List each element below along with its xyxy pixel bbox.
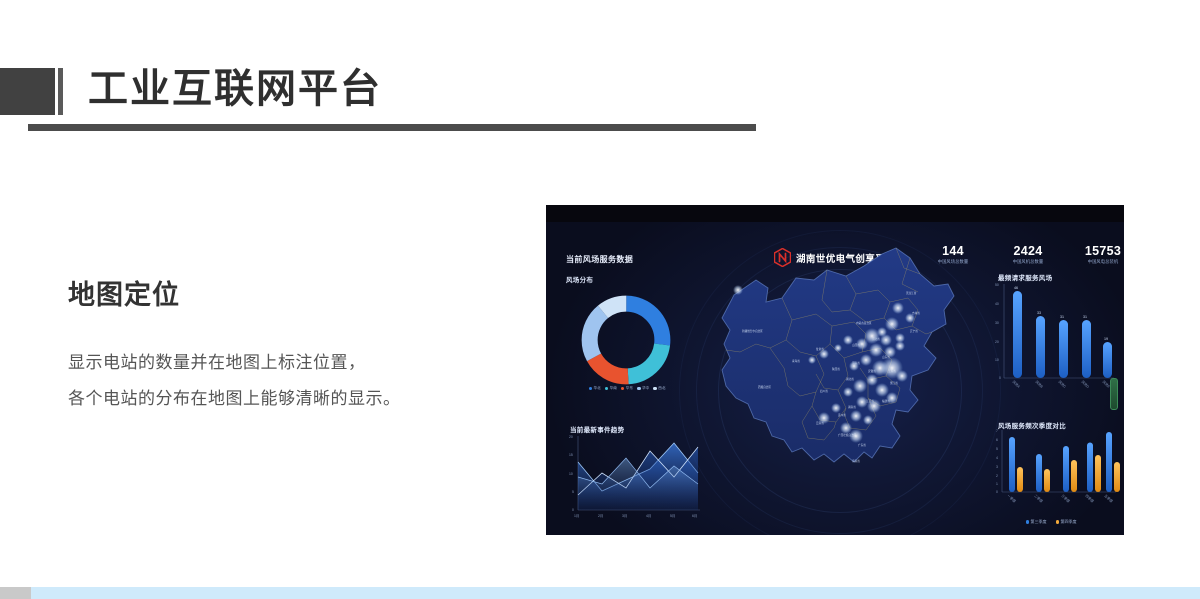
donut-legend-label-1: 华北 [594, 386, 601, 391]
vertical-scroll-pill[interactable] [1110, 378, 1118, 410]
legend-dot-icon [589, 387, 593, 391]
svg-text:辽宁省: 辽宁省 [910, 329, 918, 333]
svg-text:四季度: 四季度 [1084, 493, 1095, 504]
trend-chart-panel: 当前最新事件趋势 [556, 418, 708, 530]
donut-legend-item-4: 华中 [637, 386, 649, 391]
svg-text:湖南省: 湖南省 [848, 405, 856, 409]
svg-text:1月: 1月 [574, 514, 579, 518]
donut-legend: 华北 华南 华东 华中 西北 [563, 386, 691, 391]
section-description-line-1: 显示电站的数量并在地图上标注位置， [68, 345, 401, 381]
legend-dot-icon [605, 387, 609, 391]
svg-text:10: 10 [995, 358, 999, 362]
header-decoration-bar [58, 68, 63, 115]
donut-legend-label-4: 华中 [642, 386, 649, 391]
stat-card-2: 2424 中国风机总数量 [1004, 244, 1052, 265]
svg-text:四川省: 四川省 [820, 389, 828, 393]
svg-text:46: 46 [1014, 286, 1018, 290]
stat-label-2: 中国风机总数量 [1005, 258, 1051, 265]
quarterly-chart-legend: 第三季度 第四季度 [982, 519, 1120, 525]
svg-text:0: 0 [999, 376, 1001, 380]
donut-legend-item-2: 华南 [605, 386, 617, 391]
svg-text:4月: 4月 [646, 514, 651, 518]
svg-text:20: 20 [995, 340, 999, 344]
svg-text:31: 31 [1083, 315, 1087, 319]
svg-text:19: 19 [1104, 337, 1108, 341]
svg-text:3月: 3月 [622, 514, 627, 518]
quarterly-legend-label-2: 第四季度 [1061, 519, 1077, 525]
quarterly-comparison-chart: 7 6 5 4 3 2 1 0 一季度 [982, 418, 1120, 518]
svg-text:海南省: 海南省 [852, 459, 860, 463]
svg-text:风场D: 风场D [1080, 379, 1091, 389]
top-wind-farms-chart: 50 40 30 20 10 0 46 33 31 31 19 风场A [982, 270, 1120, 410]
donut-legend-item-3: 华东 [621, 386, 633, 391]
legend-dot-icon [637, 387, 641, 391]
donut-legend-label-3: 华东 [626, 386, 633, 391]
svg-text:2: 2 [996, 474, 998, 478]
svg-text:30: 30 [995, 321, 999, 325]
donut-chart [578, 292, 674, 388]
quarterly-comparison-chart-panel: 风场服务频次季度对比 7 6 5 4 3 [982, 418, 1120, 535]
dashboard-body: 当前风场服务数据 湖南世优电气创享平台 144 中国风场总数量 2424 中国风… [546, 222, 1124, 535]
section-description-line-2: 各个电站的分布在地图上能够清晰的显示。 [68, 381, 401, 417]
svg-text:50: 50 [995, 283, 999, 287]
svg-text:三季度: 三季度 [1060, 493, 1071, 504]
legend-dot-icon [621, 387, 625, 391]
donut-legend-item-5: 西北 [653, 386, 665, 391]
dashboard-screenshot: 当前风场服务数据 湖南世优电气创享平台 144 中国风场总数量 2424 中国风… [546, 205, 1124, 535]
stat-label-3: 中国风电总装机 [1080, 258, 1124, 265]
svg-text:20: 20 [569, 435, 573, 439]
footer-accent-block [0, 587, 31, 599]
trend-chart: 20 15 10 5 0 1月 2月 3月 4月 5月 6月 [556, 418, 708, 530]
donut-legend-item-1: 华北 [589, 386, 601, 391]
donut-chart-panel: 风场分布 华北 华南 华东 [560, 270, 692, 400]
map-landmass [722, 248, 954, 462]
svg-text:1: 1 [996, 482, 998, 486]
header-divider-rule [28, 124, 756, 131]
quarterly-legend-label-1: 第三季度 [1031, 519, 1047, 525]
svg-text:2月: 2月 [598, 514, 603, 518]
china-map: 新疆维吾尔自治区 西藏自治区 青海省 甘肃省 内蒙古自治区 黑龙江省 吉林省 辽… [696, 240, 986, 535]
svg-text:4: 4 [996, 456, 998, 460]
page-title: 工业互联网平台 [88, 60, 382, 118]
svg-text:湖北省: 湖北省 [846, 377, 854, 381]
stat-value-3: 15753 [1079, 244, 1124, 258]
stat-card-3: 15753 中国风电总装机 [1079, 244, 1124, 265]
svg-text:5月: 5月 [670, 514, 675, 518]
svg-text:5: 5 [996, 447, 998, 451]
svg-text:7: 7 [996, 429, 998, 433]
svg-text:6: 6 [996, 438, 998, 442]
svg-text:风场C: 风场C [1057, 379, 1068, 389]
dashboard-title: 当前风场服务数据 [566, 254, 633, 265]
top-wind-farms-chart-panel: 最频请求服务风场 50 40 30 20 10 0 [982, 270, 1120, 410]
svg-text:3: 3 [996, 465, 998, 469]
svg-text:风场A: 风场A [1011, 379, 1022, 389]
svg-text:10: 10 [569, 472, 573, 476]
svg-text:广东省: 广东省 [858, 443, 866, 447]
svg-text:新疆维吾尔自治区: 新疆维吾尔自治区 [742, 329, 763, 333]
svg-text:内蒙古自治区: 内蒙古自治区 [856, 321, 872, 325]
svg-text:一季度: 一季度 [1006, 493, 1017, 504]
svg-text:33: 33 [1037, 311, 1041, 315]
footer-strip [31, 587, 1200, 599]
svg-text:40: 40 [995, 302, 999, 306]
section-heading: 地图定位 [68, 273, 180, 312]
svg-text:5: 5 [572, 490, 574, 494]
donut-legend-label-2: 华南 [610, 386, 617, 391]
svg-text:0: 0 [572, 508, 574, 512]
donut-chart-title: 风场分布 [566, 274, 593, 284]
legend-dot-icon [1026, 520, 1030, 524]
section-description: 显示电站的数量并在地图上标注位置， 各个电站的分布在地图上能够清晰的显示。 [68, 345, 401, 417]
svg-text:风场B: 风场B [1034, 379, 1045, 389]
svg-text:6月: 6月 [692, 514, 697, 518]
svg-text:青海省: 青海省 [792, 359, 800, 363]
svg-text:浙江省: 浙江省 [890, 381, 898, 385]
legend-dot-icon [1056, 520, 1060, 524]
svg-text:五季度: 五季度 [1103, 493, 1114, 504]
svg-text:31: 31 [1060, 315, 1064, 319]
stat-value-2: 2424 [1004, 244, 1052, 258]
svg-text:15: 15 [569, 453, 573, 457]
dashboard-top-band [546, 205, 1124, 222]
header-decoration-block [0, 68, 55, 115]
quarterly-legend-item-1: 第三季度 [1026, 519, 1047, 525]
svg-text:黑龙江省: 黑龙江省 [906, 291, 917, 295]
svg-text:陕西省: 陕西省 [832, 367, 840, 371]
donut-legend-label-5: 西北 [658, 386, 665, 391]
svg-text:0: 0 [996, 490, 998, 494]
svg-text:西藏自治区: 西藏自治区 [758, 385, 771, 389]
svg-text:二季度: 二季度 [1033, 493, 1044, 504]
svg-text:贵州省: 贵州省 [838, 413, 846, 417]
legend-dot-icon [653, 387, 657, 391]
quarterly-legend-item-2: 第四季度 [1056, 519, 1077, 525]
